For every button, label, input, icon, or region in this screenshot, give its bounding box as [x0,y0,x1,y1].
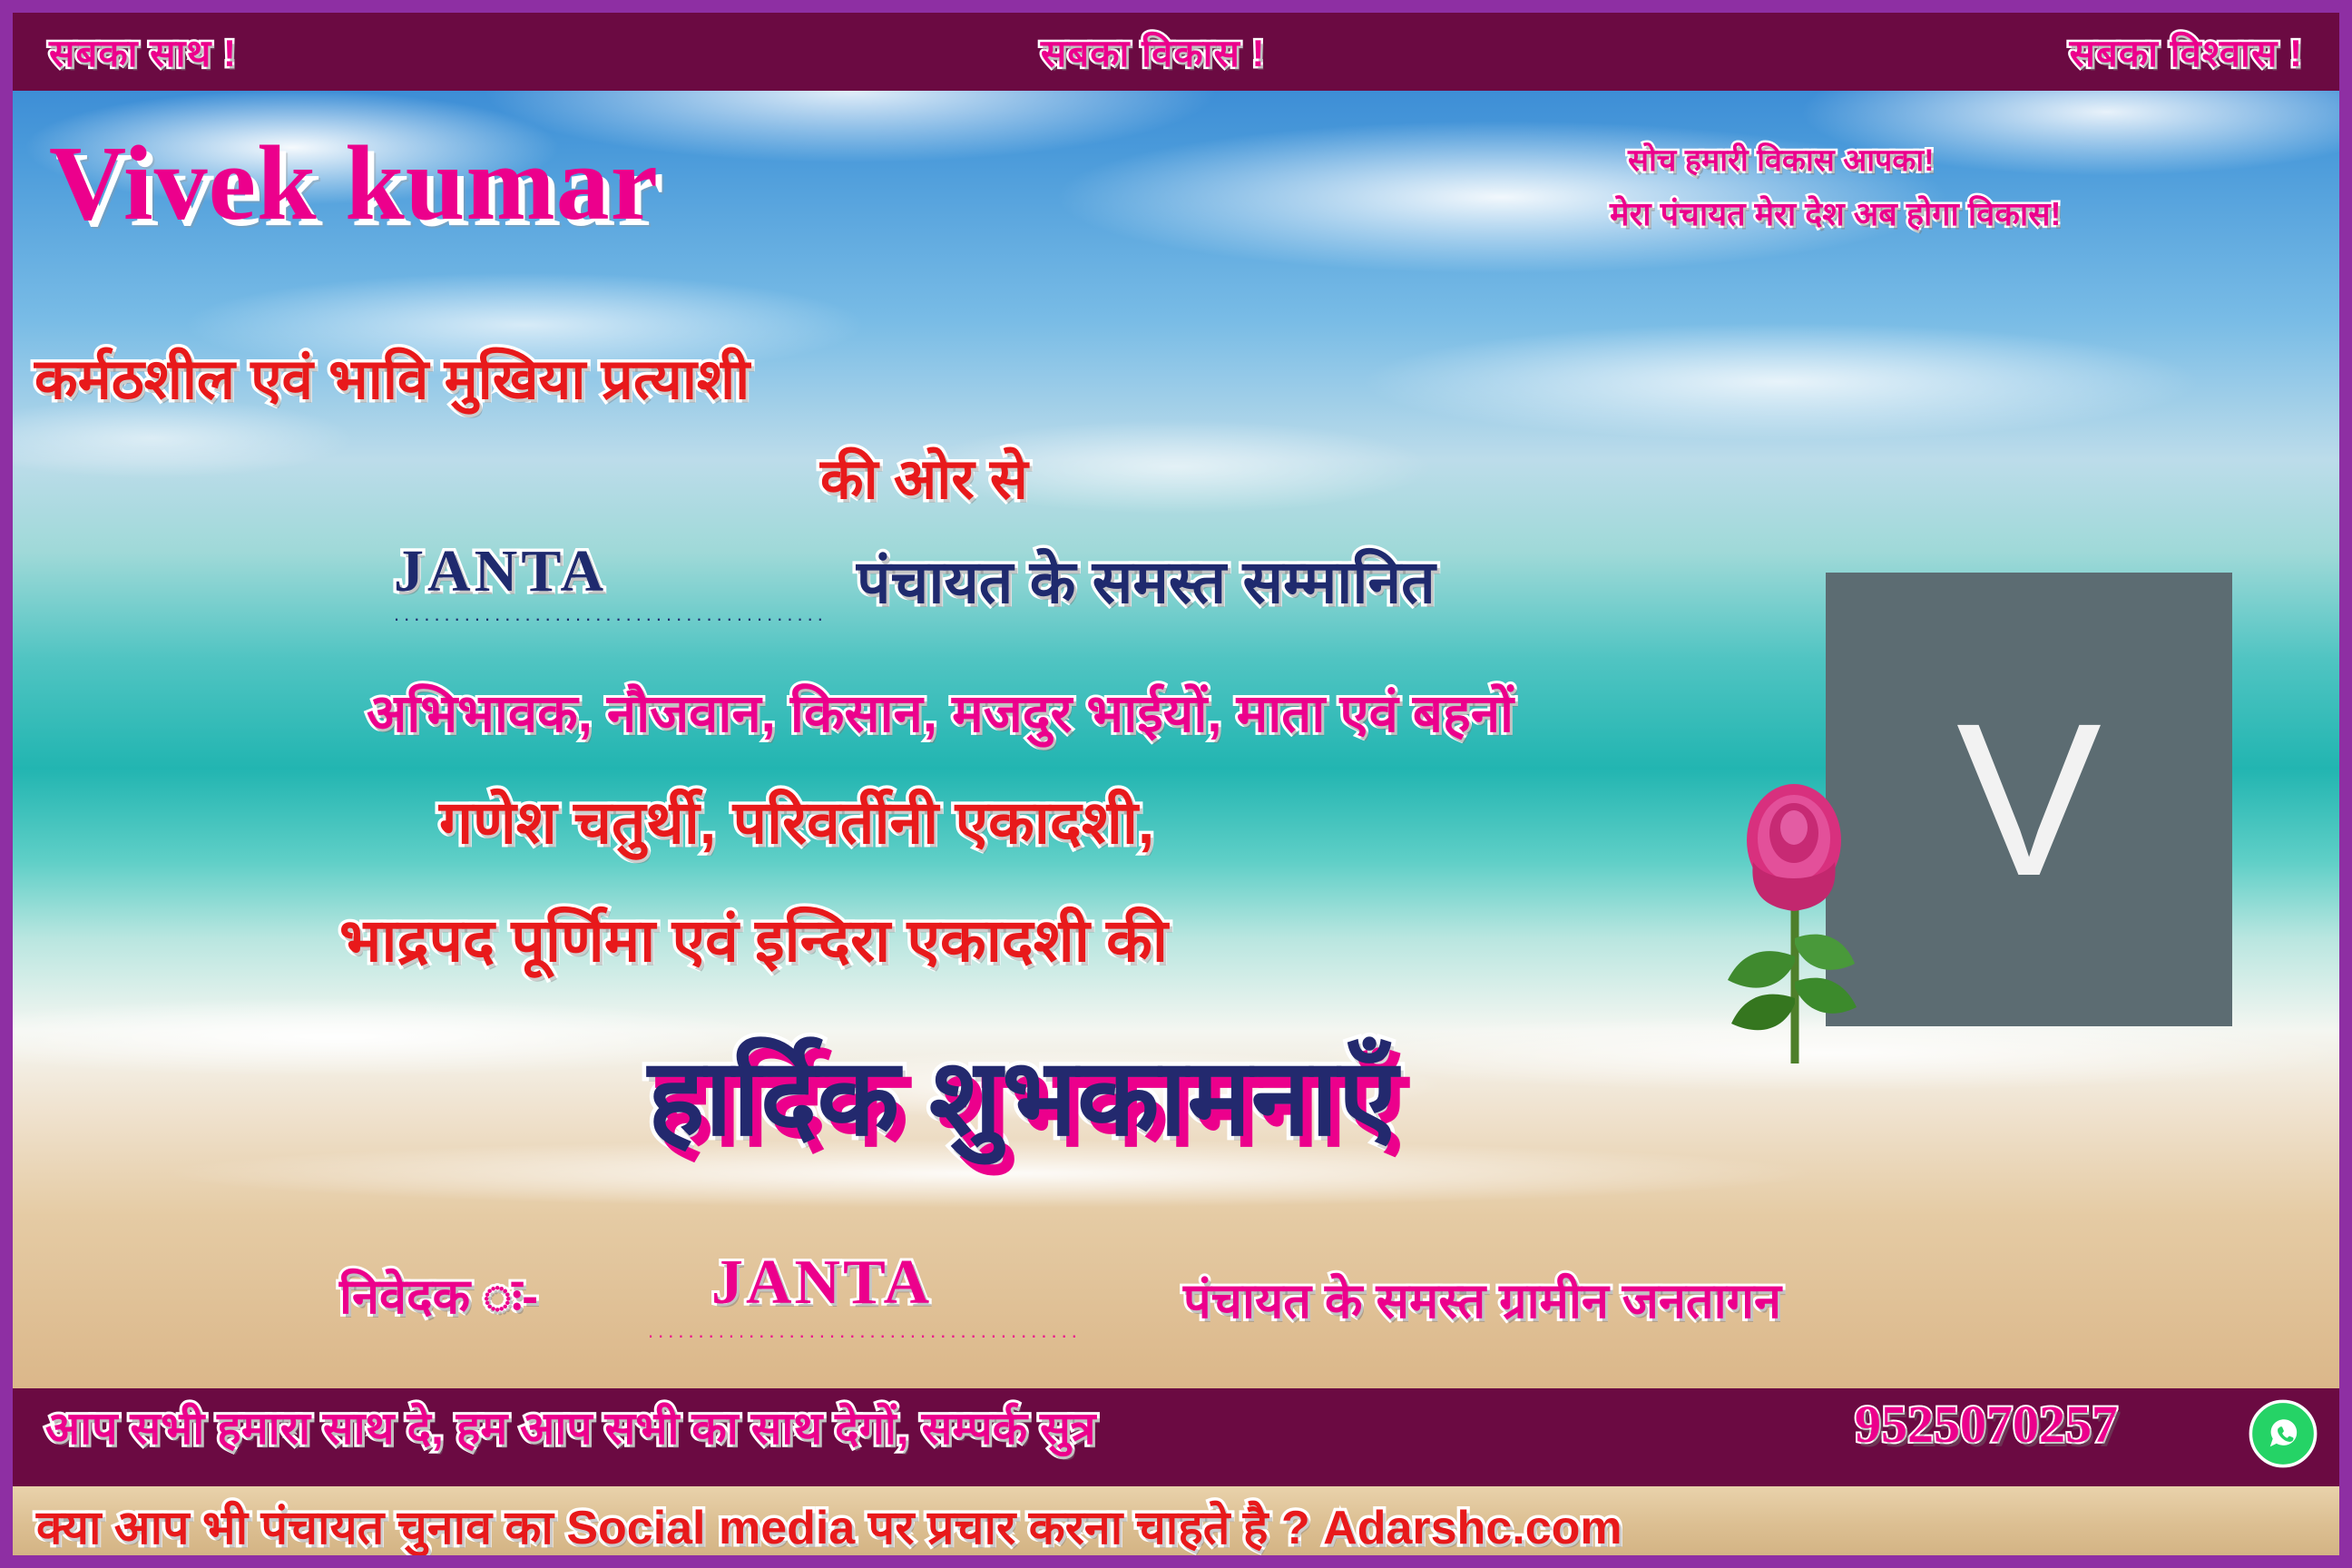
top-slogan-band: सबका साथ ! सबका विकास ! सबका विश्वास ! [13,13,2339,91]
requester-label: निवेदक ः- [339,1260,538,1328]
promo-text[interactable]: क्या आप भी पंचायत चुनाव का Social media … [36,1494,1622,1558]
photo-initial-letter: V [1826,573,2232,1026]
villagers-line: पंचायत के समस्त ग्रामीन जनतागन [1183,1265,1781,1332]
from-label-line: की ओर से [820,439,1028,515]
org-name-top-underline-dots: ........................................… [394,603,828,626]
addressee-line-2: अभिभावक, नौजवान, किसान, मजदुर भाईयों, मा… [367,675,1514,747]
slogan-sabka-vikas: सबका विकास ! [1041,26,1266,78]
election-greeting-poster: सबका साथ ! सबका विकास ! सबका विश्वास ! V… [0,0,2352,1568]
top-slogan-row: सबका साथ ! सबका विकास ! सबका विश्वास ! [13,13,2339,91]
addressee-line-1: पंचायत के समस्त सम्मानित [857,539,1436,621]
whatsapp-icon[interactable] [2249,1399,2318,1468]
candidate-role-line: कर्मठशील एवं भावि मुखिया प्रत्याशी [34,339,750,416]
org-name-bottom: JANTA [711,1247,932,1319]
candidate-name: Vivek kumar [49,122,659,245]
tagline-line-2: मेरा पंचायत मेरा देश अब होगा विकास! [1610,191,2062,235]
festival-line-1: गणेश चतुर्थी, परिवर्तीनी एकादशी, [439,779,1154,861]
greeting-headline: हार्दिक शुभकामनाएँ [648,1020,1397,1166]
org-name-top: JANTA [394,537,607,606]
candidate-photo-placeholder: V [1826,573,2232,1026]
slogan-sabka-saath: सबका साथ ! [49,26,237,78]
contact-phone-number[interactable]: 9525070257 [1855,1394,2118,1455]
support-request-text: आप सभी हमारा साथ दे, हम आप सभी का साथ दे… [45,1396,1095,1457]
festival-line-2: भाद्रपद पूर्णिमा एवं इन्दिरा एकादशी की [339,897,1168,979]
slogan-sabka-vishwas: सबका विश्वास ! [2069,26,2303,78]
tagline-line-1: सोच हमारी विकास आपका! [1628,138,1935,180]
rose-flower-icon [1708,775,1880,1065]
org-name-bottom-underline-dots: ........................................… [648,1319,1082,1343]
